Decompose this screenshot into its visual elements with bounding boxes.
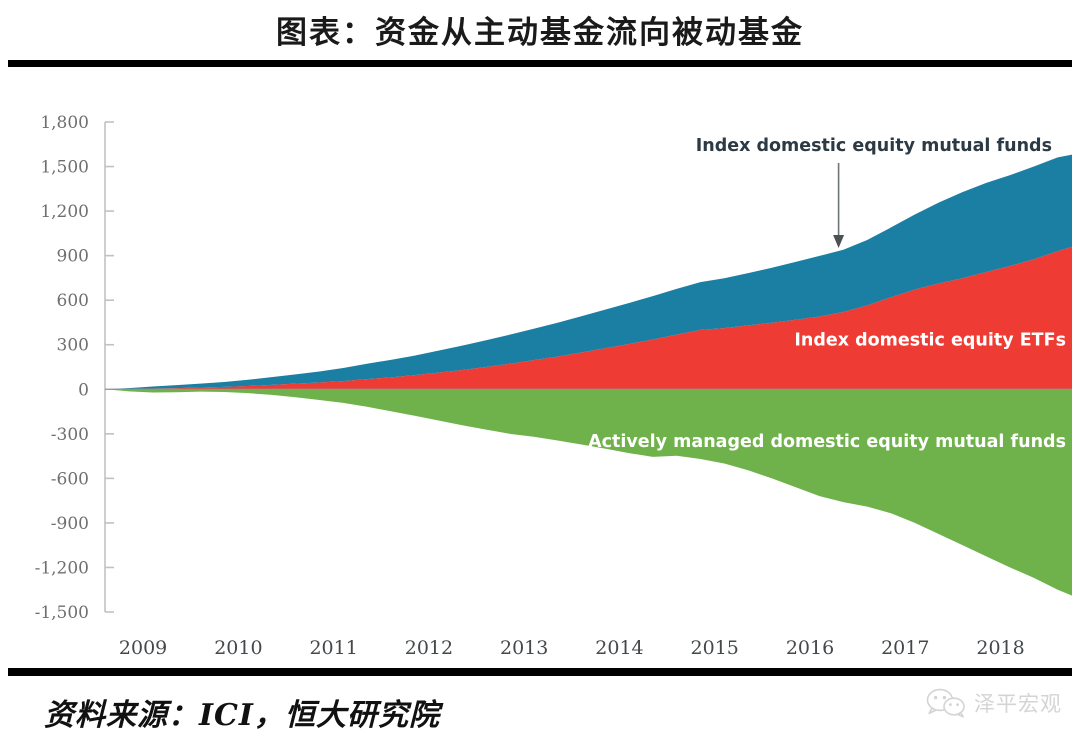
y-axis-tick-label: -1,500 [35, 603, 89, 623]
watermark-label: 泽平宏观 [974, 688, 1062, 718]
x-axis-tick-label: 2018 [976, 637, 1024, 659]
wechat-icon [926, 688, 966, 718]
y-axis-tick-label: -1,200 [35, 558, 89, 578]
y-axis-tick-label: 1,800 [40, 113, 89, 133]
y-axis-tick-label: 0 [78, 380, 89, 400]
y-axis-tick-label: -600 [51, 469, 89, 489]
x-axis-tick-label: 2017 [881, 637, 929, 659]
y-axis-tick-label: 1,200 [40, 202, 89, 222]
footer-divider-rule [8, 668, 1072, 676]
series-label-active_mutual_funds: Actively managed domestic equity mutual … [588, 432, 1066, 452]
x-axis-tick-label: 2013 [500, 637, 548, 659]
annotation-arrow-head [833, 235, 844, 248]
y-axis-tick-label: 600 [57, 291, 89, 311]
y-axis-tick-label: -900 [51, 514, 89, 534]
source-note: 资料来源：ICI，恒大研究院 [44, 690, 440, 734]
x-axis-tick-labels: 2009201020112012201320142015201620172018 [119, 637, 1025, 659]
title-band: 图表：资金从主动基金流向被动基金 [0, 0, 1080, 58]
x-axis-tick-label: 2009 [119, 637, 167, 659]
series-label-index_mutual_funds: Index domestic equity mutual funds [696, 136, 1052, 156]
series-label-index_etfs: Index domestic equity ETFs [794, 330, 1066, 350]
y-axis-tick-label: 900 [57, 247, 89, 267]
title-divider-rule [8, 60, 1072, 67]
page-title: 图表：资金从主动基金流向被动基金 [276, 7, 804, 52]
area-series-active_mutual_funds [105, 389, 1072, 595]
x-axis-tick-label: 2015 [691, 637, 739, 659]
y-axis-tick-label: -300 [51, 425, 89, 445]
chart-series-group [105, 155, 1072, 596]
watermark: 泽平宏观 [926, 688, 1062, 718]
y-axis-tick-label: 1,500 [40, 158, 89, 178]
chart-area: 1,8001,5001,2009006003000-300-600-900-1,… [0, 67, 1080, 668]
y-axis-tick-labels: 1,8001,5001,2009006003000-300-600-900-1,… [35, 113, 89, 623]
x-axis-tick-label: 2010 [214, 637, 262, 659]
x-axis-tick-label: 2014 [595, 637, 643, 659]
x-axis-tick-label: 2011 [309, 637, 357, 659]
x-axis-tick-label: 2012 [405, 637, 453, 659]
stacked-area-chart: 1,8001,5001,2009006003000-300-600-900-1,… [0, 67, 1080, 668]
y-axis-tick-label: 300 [57, 336, 89, 356]
x-axis-tick-label: 2016 [786, 637, 834, 659]
chart-page: 图表：资金从主动基金流向被动基金 1,8001,5001,20090060030… [0, 0, 1080, 754]
